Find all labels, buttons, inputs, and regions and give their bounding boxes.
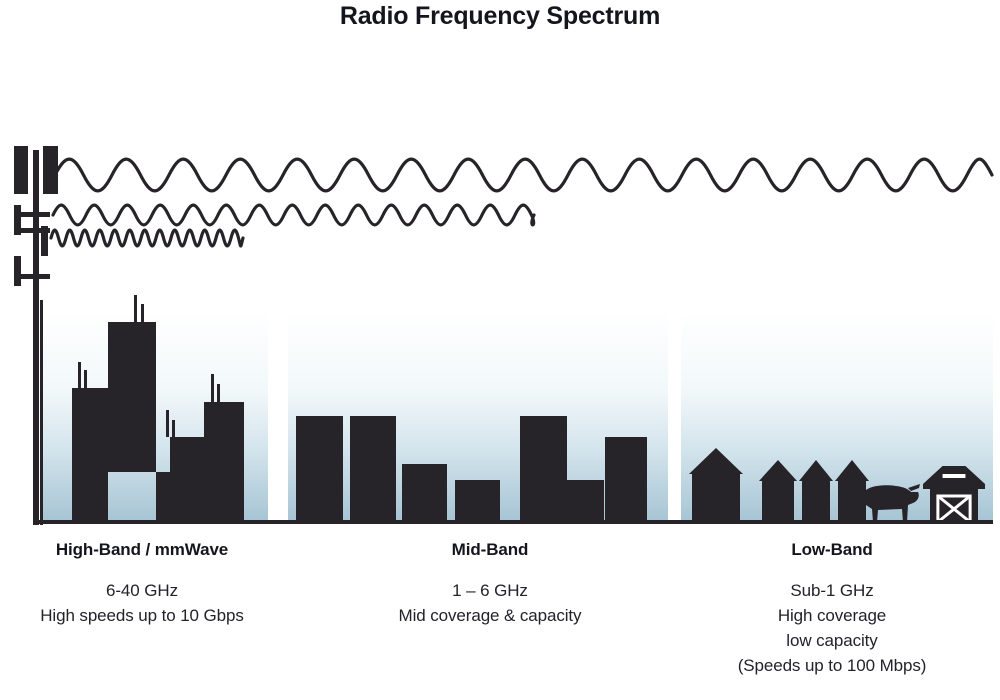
column-low-band-line-2: low capacity — [672, 628, 992, 653]
house-roof-3 — [835, 460, 869, 481]
town-building-5 — [567, 480, 604, 522]
house-body-1 — [762, 481, 794, 522]
city-building-0 — [72, 388, 108, 522]
lower-left-antenna — [14, 256, 21, 286]
barn-door-frame — [938, 496, 970, 522]
panel-mid-band-backdrop — [288, 310, 668, 522]
building-spire-1-1 — [141, 304, 144, 322]
city-building-1 — [108, 322, 156, 472]
column-low-band-line-3: (Speeds up to 100 Mbps) — [672, 653, 992, 678]
upper-right-antenna — [43, 146, 58, 194]
building-spire-4-0 — [211, 374, 214, 402]
town-building-6 — [605, 437, 647, 522]
column-high-band-heading: High-Band / mmWave — [8, 540, 276, 560]
tower-crossbar-lower — [20, 274, 50, 279]
tower-crossbar-upper — [20, 212, 50, 217]
town-building-2 — [402, 464, 447, 522]
column-mid-band-line-1: Mid coverage & capacity — [340, 603, 640, 628]
cow-silhouette — [858, 484, 920, 522]
wave-high-band — [51, 230, 243, 246]
infographic-canvas: Radio Frequency Spectrum High-Band / mmW… — [0, 0, 1000, 700]
house-body-0 — [692, 474, 740, 522]
column-low-band-line-0: Sub-1 GHz — [672, 578, 992, 603]
column-low-band: Low-Band Sub-1 GHz High coverage low cap… — [672, 540, 992, 678]
cell-tower — [14, 146, 58, 525]
column-low-band-line-1: High coverage — [672, 603, 992, 628]
barn-body — [930, 484, 978, 522]
city-skyline — [72, 295, 244, 522]
tower-crossbar-mid — [20, 228, 50, 233]
cow-body — [863, 485, 919, 522]
rural-scene — [689, 448, 985, 522]
ground-line — [33, 520, 993, 524]
barn-door-cross-a — [938, 496, 970, 522]
cow-horn — [908, 484, 920, 491]
house-roof-0 — [689, 448, 743, 474]
building-spire-0-1 — [84, 370, 87, 388]
column-mid-band-heading: Mid-Band — [340, 540, 640, 560]
barn-door-cross-b — [938, 496, 970, 522]
column-mid-band: Mid-Band 1 – 6 GHz Mid coverage & capaci… — [340, 540, 640, 628]
building-spire-4-1 — [217, 384, 220, 402]
barn-loft-window — [943, 474, 966, 478]
upper-left-antenna — [14, 146, 28, 194]
house-body-3 — [838, 481, 866, 522]
barn-roof — [923, 466, 985, 489]
mid-right-antenna — [41, 226, 48, 256]
building-spire-1-0 — [134, 295, 137, 322]
town-building-4 — [520, 416, 567, 522]
town-building-3 — [455, 480, 500, 522]
building-spire-3-0 — [166, 410, 169, 437]
column-high-band-line-1: High speeds up to 10 Gbps — [8, 603, 276, 628]
town-skyline — [296, 416, 647, 522]
city-building-2 — [156, 472, 170, 522]
city-building-3 — [170, 437, 204, 522]
building-spire-3-1 — [172, 420, 175, 437]
column-label-row: High-Band / mmWave 6-40 GHz High speeds … — [0, 540, 1000, 700]
city-building-4 — [204, 402, 244, 522]
column-high-band: High-Band / mmWave 6-40 GHz High speeds … — [8, 540, 276, 628]
cow-tail — [858, 494, 863, 511]
tower-mast — [33, 150, 39, 525]
building-spire-0-0 — [78, 362, 81, 388]
house-body-2 — [802, 481, 830, 522]
column-mid-band-line-0: 1 – 6 GHz — [340, 578, 640, 603]
panel-high-band-backdrop — [40, 310, 268, 522]
tower-mast-leg — [40, 300, 43, 525]
barn-silhouette — [923, 466, 985, 522]
column-low-band-heading: Low-Band — [672, 540, 992, 560]
panel-low-band-backdrop — [681, 310, 993, 522]
town-building-1 — [350, 416, 396, 522]
town-building-0 — [296, 416, 343, 522]
wave-low-band — [55, 159, 992, 191]
mid-left-antenna — [14, 205, 21, 235]
page-title: Radio Frequency Spectrum — [0, 2, 1000, 31]
wave-mid-band — [53, 205, 534, 225]
column-high-band-line-0: 6-40 GHz — [8, 578, 276, 603]
house-roof-1 — [759, 460, 797, 481]
house-roof-2 — [799, 460, 833, 481]
